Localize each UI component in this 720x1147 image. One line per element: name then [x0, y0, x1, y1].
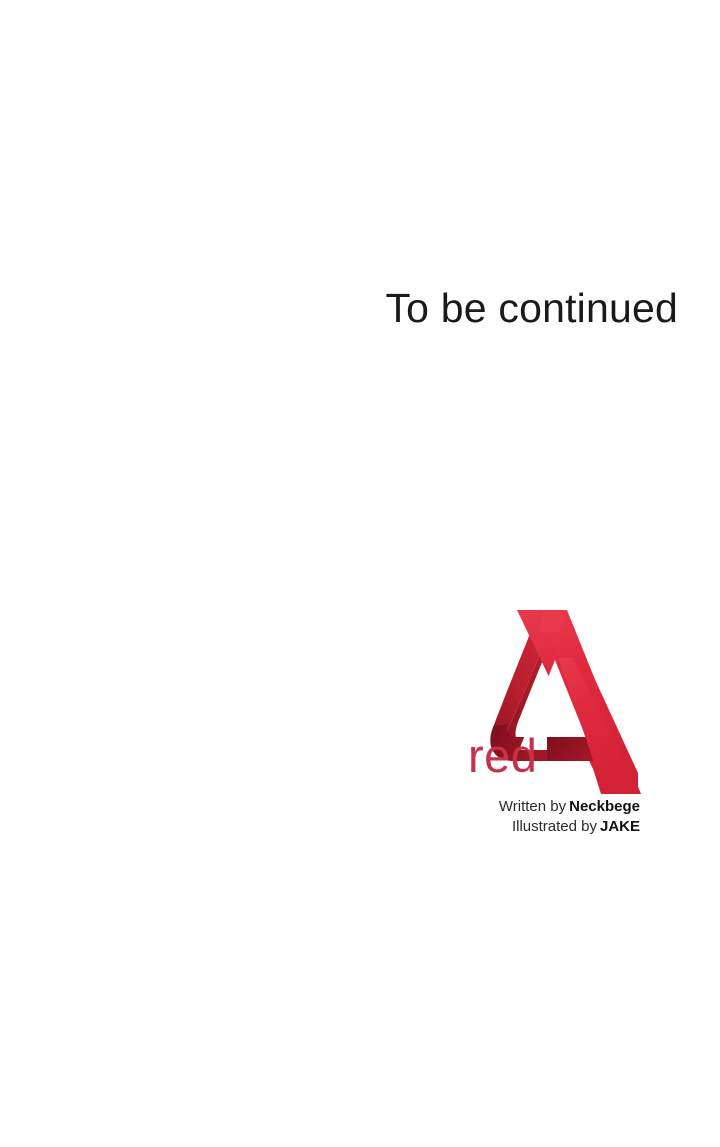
credit-illustrated-by: Illustrated byJAKE: [455, 817, 640, 837]
credits: Written byNeckbege Illustrated byJAKE: [455, 797, 640, 837]
credit-illustrated-label: Illustrated by: [512, 818, 597, 835]
comic-end-page: To be continued: [0, 0, 720, 1147]
credit-illustrated-name: JAKE: [600, 818, 640, 835]
to-be-continued-text: To be continued: [0, 286, 678, 331]
credit-written-by: Written byNeckbege: [455, 797, 640, 817]
credit-written-label: Written by: [499, 798, 566, 815]
red-wordmark: red: [468, 732, 537, 779]
publisher-logo-block: red Written byNeckbege Illustrated byJAK…: [455, 598, 655, 848]
credit-written-name: Neckbege: [569, 798, 640, 815]
